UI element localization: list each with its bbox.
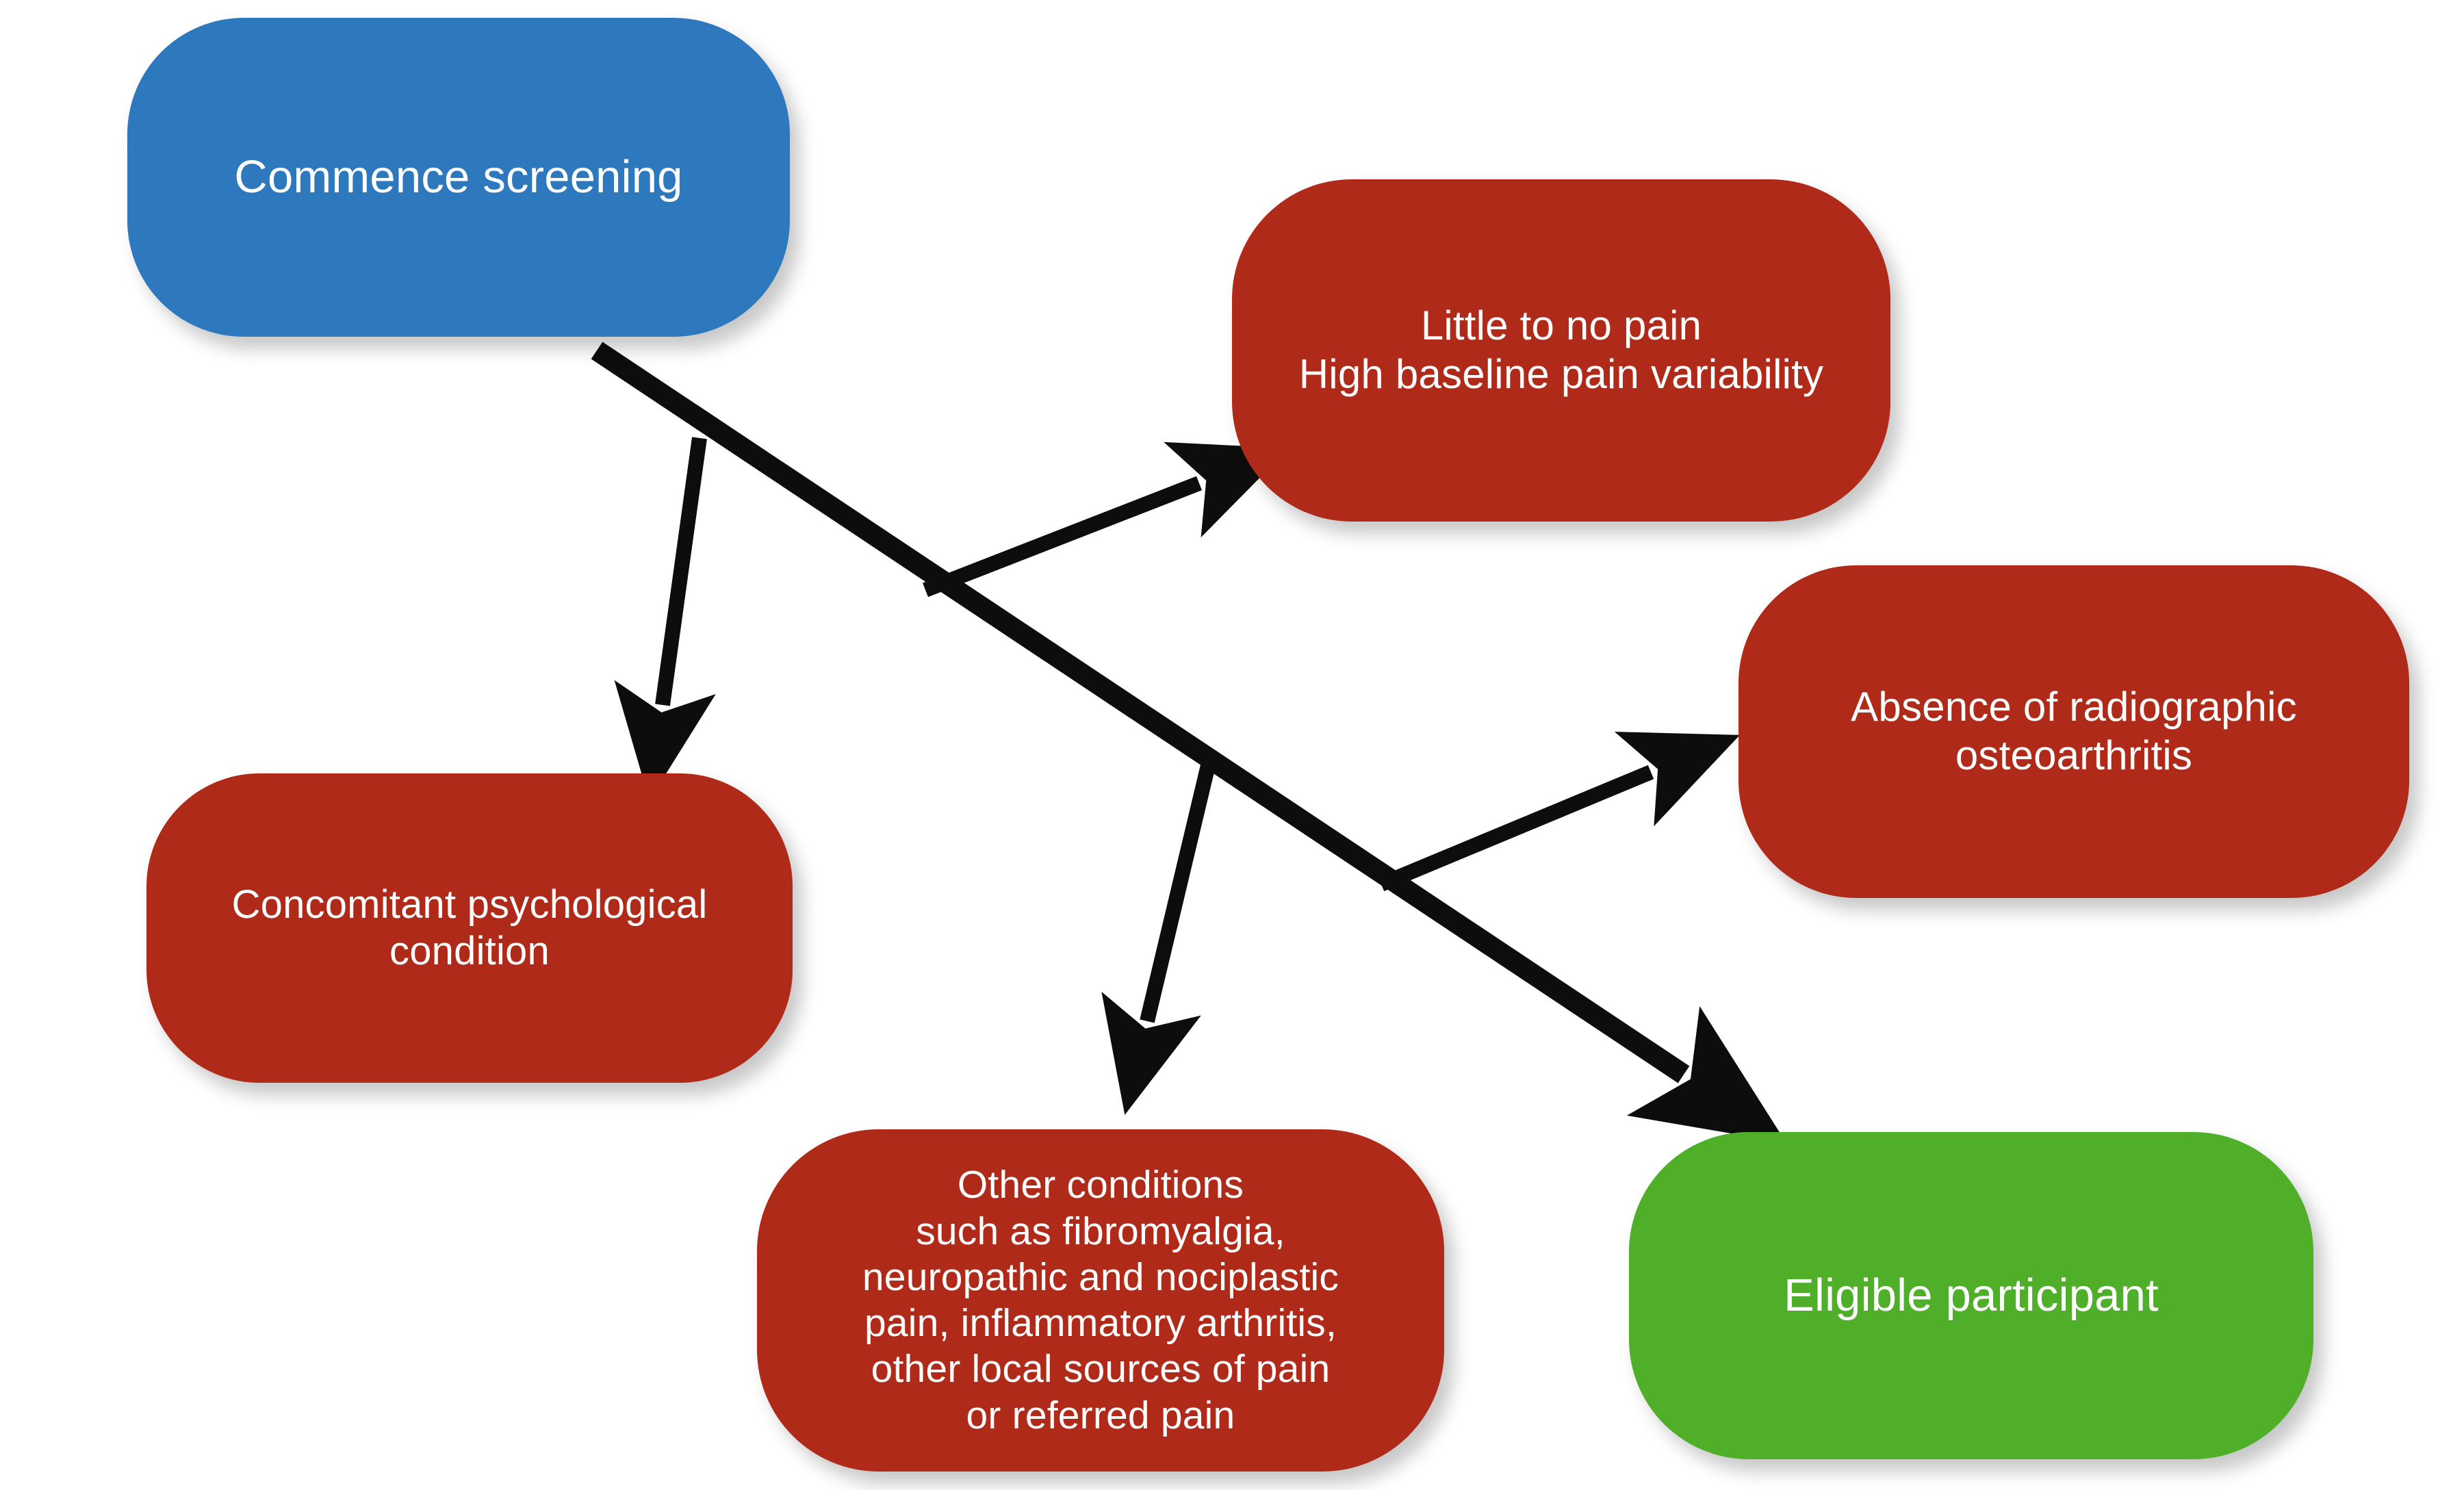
node-little-to-no-pain[interactable]: Little to no pain High baseline pain var… bbox=[1232, 179, 1890, 522]
node-little-to-no-pain-label: Little to no pain High baseline pain var… bbox=[1299, 302, 1823, 399]
node-commence-screening[interactable]: Commence screening bbox=[127, 18, 790, 337]
node-eligible-participant[interactable]: Eligible participant bbox=[1629, 1132, 2313, 1459]
node-other-conditions-label: Other conditions such as fibromyalgia, n… bbox=[862, 1162, 1339, 1439]
node-absence-of-radiographic-osteoarthritis-label: Absence of radiographic osteoarthritis bbox=[1851, 683, 2297, 780]
node-other-conditions[interactable]: Other conditions such as fibromyalgia, n… bbox=[757, 1129, 1444, 1472]
node-commence-screening-label: Commence screening bbox=[234, 150, 682, 204]
node-concomitant-psychological-condition[interactable]: Concomitant psychological condition bbox=[146, 773, 793, 1083]
node-eligible-participant-label: Eligible participant bbox=[1784, 1268, 2159, 1322]
node-absence-of-radiographic-osteoarthritis[interactable]: Absence of radiographic osteoarthritis bbox=[1738, 565, 2409, 898]
edge-to-other-conditions bbox=[1147, 757, 1210, 1021]
edge-to-little-pain bbox=[925, 483, 1199, 590]
edge-to-absence-oa bbox=[1381, 772, 1651, 884]
node-concomitant-psychological-condition-label: Concomitant psychological condition bbox=[232, 882, 708, 975]
edge-to-psych bbox=[663, 438, 700, 705]
diagram-canvas: Commence screening Little to no pain Hig… bbox=[0, 0, 2464, 1490]
